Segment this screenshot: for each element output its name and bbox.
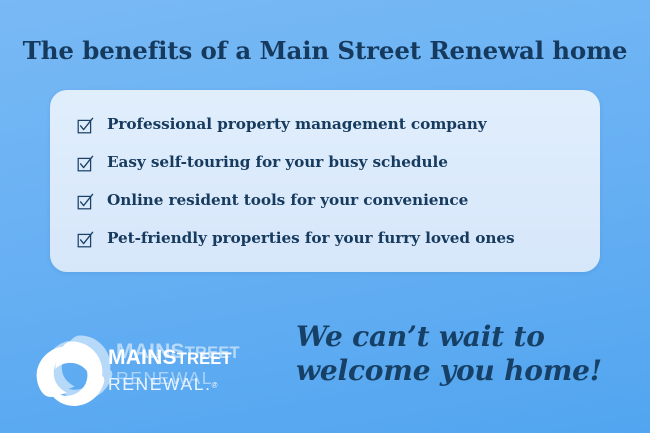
benefit-label: Easy self-touring for your busy schedule	[107, 155, 448, 170]
ballot-box-with-check-icon	[77, 231, 94, 248]
brand-logo: MAINSTREET RENEWAL. MAINSTREET RENEWAL.®	[34, 325, 274, 425]
list-item: Online resident tools for your convenien…	[77, 182, 600, 220]
benefit-label: Online resident tools for your convenien…	[107, 193, 468, 208]
brand-tagline-text: RENEWAL.	[108, 374, 212, 394]
registered-trademark-icon: ®	[212, 381, 218, 390]
ballot-box-with-check-icon	[77, 193, 94, 210]
brand-name-part-s: S	[162, 346, 176, 369]
ballot-box-with-check-icon	[77, 117, 94, 134]
list-item: Easy self-touring for your busy schedule	[77, 144, 600, 182]
brand-logo-main-layer: MAINSTREET RENEWAL.®	[34, 325, 274, 425]
closing-message-line-2: welcome you home!	[296, 354, 626, 388]
promotional-poster: The benefits of a Main Street Renewal ho…	[0, 0, 650, 433]
brand-name-part-treet: TREET	[177, 350, 232, 368]
ballot-box-with-check-icon	[77, 155, 94, 172]
benefits-card: Professional property management company…	[50, 90, 600, 272]
closing-message: We can’t wait to welcome you home!	[296, 320, 626, 388]
benefit-label: Pet-friendly properties for your furry l…	[107, 231, 514, 246]
benefit-label: Professional property management company	[107, 117, 487, 132]
closing-message-line-1: We can’t wait to	[296, 320, 626, 354]
brand-tagline: RENEWAL.®	[108, 376, 278, 394]
mainstreet-renewal-pinwheel-icon	[34, 337, 110, 413]
brand-name: MAINSTREET	[108, 347, 278, 368]
list-item: Pet-friendly properties for your furry l…	[77, 220, 600, 258]
brand-wordmark: MAINSTREET RENEWAL.®	[108, 347, 278, 394]
page-title: The benefits of a Main Street Renewal ho…	[0, 36, 650, 65]
brand-name-part-main: MAIN	[108, 346, 162, 369]
list-item: Professional property management company	[77, 106, 600, 144]
